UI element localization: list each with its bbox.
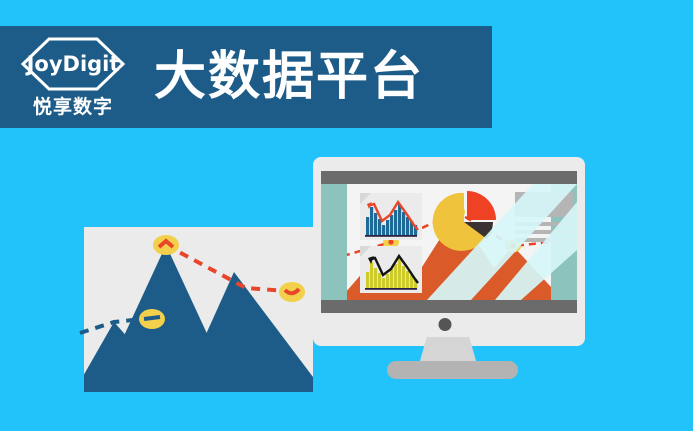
logo-subtitle: 悦享数字 — [33, 92, 113, 119]
blue-mountain-shapes — [84, 227, 313, 392]
header-banner: JoyDigit 悦享数字 大数据平台 — [0, 26, 492, 128]
blue-mountain-chart-panel — [84, 227, 313, 392]
hexagon-icon: JoyDigit — [18, 35, 128, 93]
page-title: 大数据平台 — [154, 51, 424, 103]
logo-wordmark: JoyDigit — [27, 52, 120, 76]
image-placeholder — [515, 192, 573, 217]
text-line — [515, 238, 573, 242]
dashboard-content — [347, 184, 551, 300]
monitor-top-bezel — [321, 171, 577, 184]
blue-bar-chart — [360, 193, 422, 240]
blue-bar-chart-card[interactable] — [360, 193, 422, 240]
brand-logo: JoyDigit 悦享数字 — [12, 35, 134, 119]
monitor-stand-neck — [420, 337, 476, 361]
text-line — [515, 230, 573, 234]
yellow-bar-chart-card[interactable] — [360, 246, 422, 293]
monitor-stand-base — [387, 361, 518, 379]
power-indicator-icon — [439, 318, 452, 331]
yellow-bar-chart — [360, 246, 422, 293]
monitor-screen — [321, 184, 577, 300]
text-line — [515, 222, 573, 226]
text-placeholder-block — [515, 192, 573, 242]
monitor-bottom-bezel — [321, 300, 577, 313]
pie-chart[interactable] — [431, 190, 501, 254]
screen-side-band-left — [321, 184, 347, 300]
illustration-canvas: JoyDigit 悦享数字 大数据平台 — [0, 0, 693, 431]
